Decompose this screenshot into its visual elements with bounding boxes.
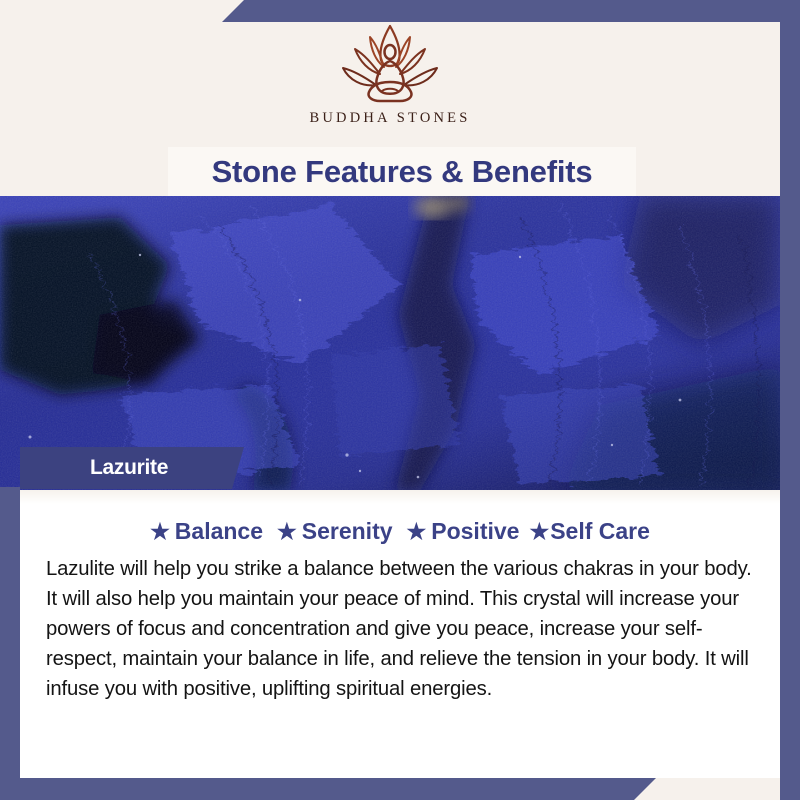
star-icon: ★ <box>150 521 170 543</box>
decorative-frame-top <box>222 0 800 22</box>
stone-name-badge: Lazurite <box>20 447 244 489</box>
star-icon: ★ <box>407 521 427 543</box>
decorative-frame-right <box>780 0 800 800</box>
keyword-list: ★ Balance ★ Serenity ★ Positive ★ Self C… <box>34 518 766 545</box>
keyword-item-balance: ★ Balance <box>150 518 263 545</box>
lazurite-stone-photo <box>0 195 780 491</box>
decorative-frame-bottom <box>0 778 656 800</box>
stone-description: Lazulite will help you strike a balance … <box>34 554 766 704</box>
keyword-item-serenity: ★ Serenity <box>277 518 393 545</box>
content-card: ★ Balance ★ Serenity ★ Positive ★ Self C… <box>20 490 780 778</box>
keyword-item-positive: ★ Positive <box>407 518 520 545</box>
star-icon: ★ <box>277 521 297 543</box>
keyword-label: Self Care <box>550 518 650 545</box>
keyword-item-self-care: ★ Self Care <box>529 518 649 545</box>
page-title: Stone Features & Benefits <box>212 154 593 190</box>
stone-name-label: Lazurite <box>90 456 168 480</box>
keyword-label: Serenity <box>302 518 393 545</box>
star-icon: ★ <box>529 521 549 543</box>
page-title-banner: Stone Features & Benefits <box>168 147 636 196</box>
brand-name: BUDDHA STONES <box>310 110 471 127</box>
keyword-label: Balance <box>175 518 263 545</box>
lotus-meditation-icon <box>338 22 442 106</box>
decorative-frame-left <box>0 487 20 778</box>
brand-logo: BUDDHA STONES <box>0 22 780 127</box>
keyword-label: Positive <box>431 518 519 545</box>
